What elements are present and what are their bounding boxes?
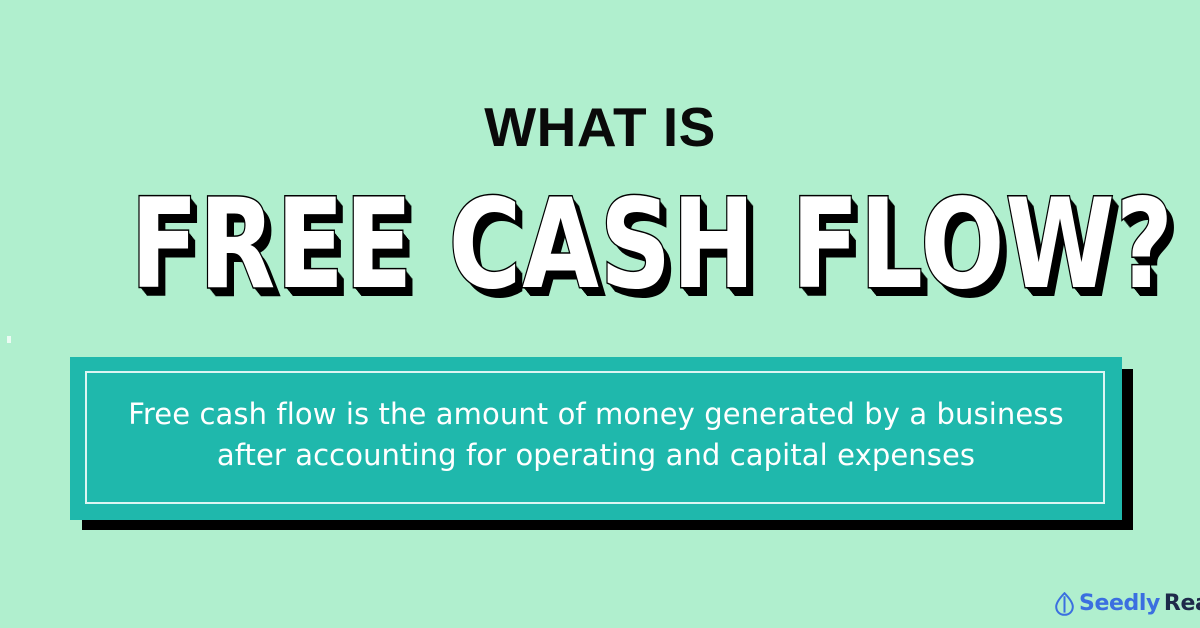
- definition-text: Free cash flow is the amount of money ge…: [100, 394, 1092, 476]
- brand-logo[interactable]: SeedlyReads: [1055, 589, 1200, 619]
- poster-canvas: WHAT IS FREE CASH FLOW? Free cash flow i…: [0, 0, 1200, 628]
- definition-line-2: after accounting for operating and capit…: [100, 435, 1092, 476]
- brand-logo-text: SeedlyReads: [1079, 592, 1200, 616]
- eyebrow-text: WHAT IS: [0, 99, 1200, 155]
- definition-line-1: Free cash flow is the amount of money ge…: [100, 394, 1092, 435]
- brand-name-primary: Seedly: [1079, 591, 1160, 616]
- brand-name-secondary: Reads: [1164, 591, 1200, 616]
- seedly-leaf-icon: [1055, 592, 1074, 616]
- headline-container: FREE CASH FLOW?: [0, 186, 1200, 304]
- page-title: FREE CASH FLOW?: [130, 186, 1174, 304]
- edge-speck-artifact: [7, 336, 11, 343]
